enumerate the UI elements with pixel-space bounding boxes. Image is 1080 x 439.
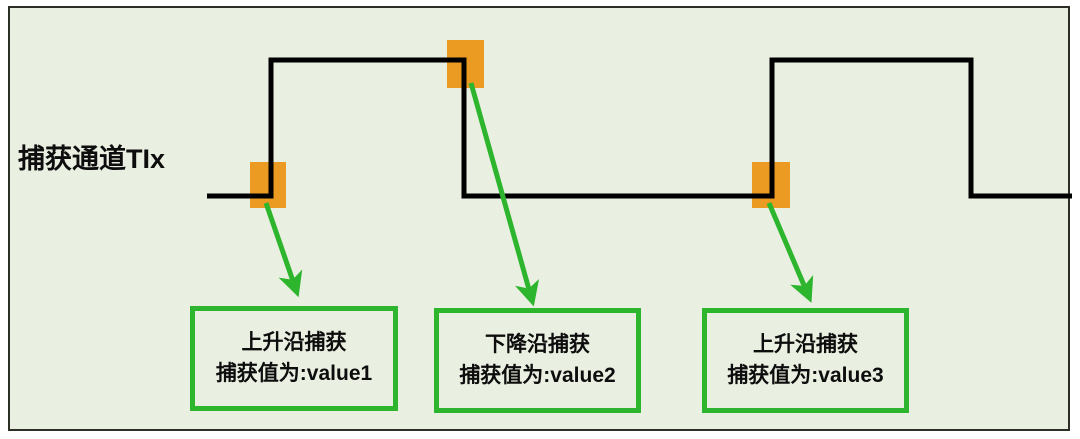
- capture-box-1-value: 捕获值为:value1: [216, 362, 372, 386]
- capture-box-1-edge-type: 上升沿捕获: [242, 331, 347, 355]
- capture-box-2: 下降沿捕获 捕获值为:value2: [434, 308, 641, 413]
- capture-box-2-value: 捕获值为:value2: [459, 364, 615, 388]
- arrow-2: [471, 83, 530, 293]
- capture-box-3-edge-type: 上升沿捕获: [753, 333, 858, 357]
- diagram-root: 捕获通道TIx 上升沿捕获 捕获值为:value1 下降沿捕获 捕获值为:val…: [0, 0, 1080, 439]
- signal-trace: [207, 60, 1072, 196]
- capture-box-1: 上升沿捕获 捕获值为:value1: [190, 306, 398, 411]
- arrow-1: [266, 203, 294, 284]
- capture-box-3-value: 捕获值为:value3: [727, 364, 883, 388]
- channel-label: 捕获通道TIx: [18, 142, 165, 176]
- capture-box-3: 上升沿捕获 捕获值为:value3: [702, 308, 909, 413]
- arrow-3: [769, 203, 806, 290]
- capture-marker-1: [250, 162, 286, 208]
- capture-box-2-edge-type: 下降沿捕获: [485, 333, 590, 357]
